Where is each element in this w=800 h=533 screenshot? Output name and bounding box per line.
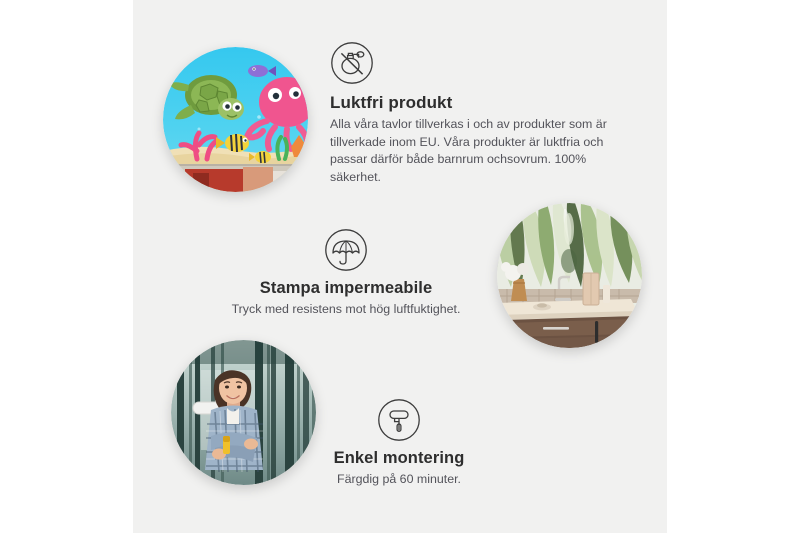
feature-easyfit: Enkel montering Färgdig på 60 minuter. [300,398,498,489]
no-fragrance-icon [330,41,374,85]
bathroom-tropical-wallpaper-photo [497,203,642,348]
feature-body: Alla våra tavlor tillverkas i och av pro… [330,116,626,186]
product-feature-banner: Luktfri produkt Alla våra tavlor tillver… [0,0,800,533]
feature-body: Tryck med resistens mot hög luftfuktighe… [206,301,486,319]
paint-roller-icon [377,398,421,442]
underwater-cartoon-mural-photo [163,47,308,192]
umbrella-icon [324,228,368,272]
feature-title: Enkel montering [300,449,498,468]
feature-body: Färgdig på 60 minuter. [300,471,498,489]
feature-waterproof: Stampa impermeabile Tryck med resistens … [206,228,486,319]
installer-forest-mural-photo [171,340,316,485]
feature-title: Stampa impermeabile [206,279,486,298]
feature-odourless: Luktfri produkt Alla våra tavlor tillver… [330,41,626,186]
feature-title: Luktfri produkt [330,93,626,113]
